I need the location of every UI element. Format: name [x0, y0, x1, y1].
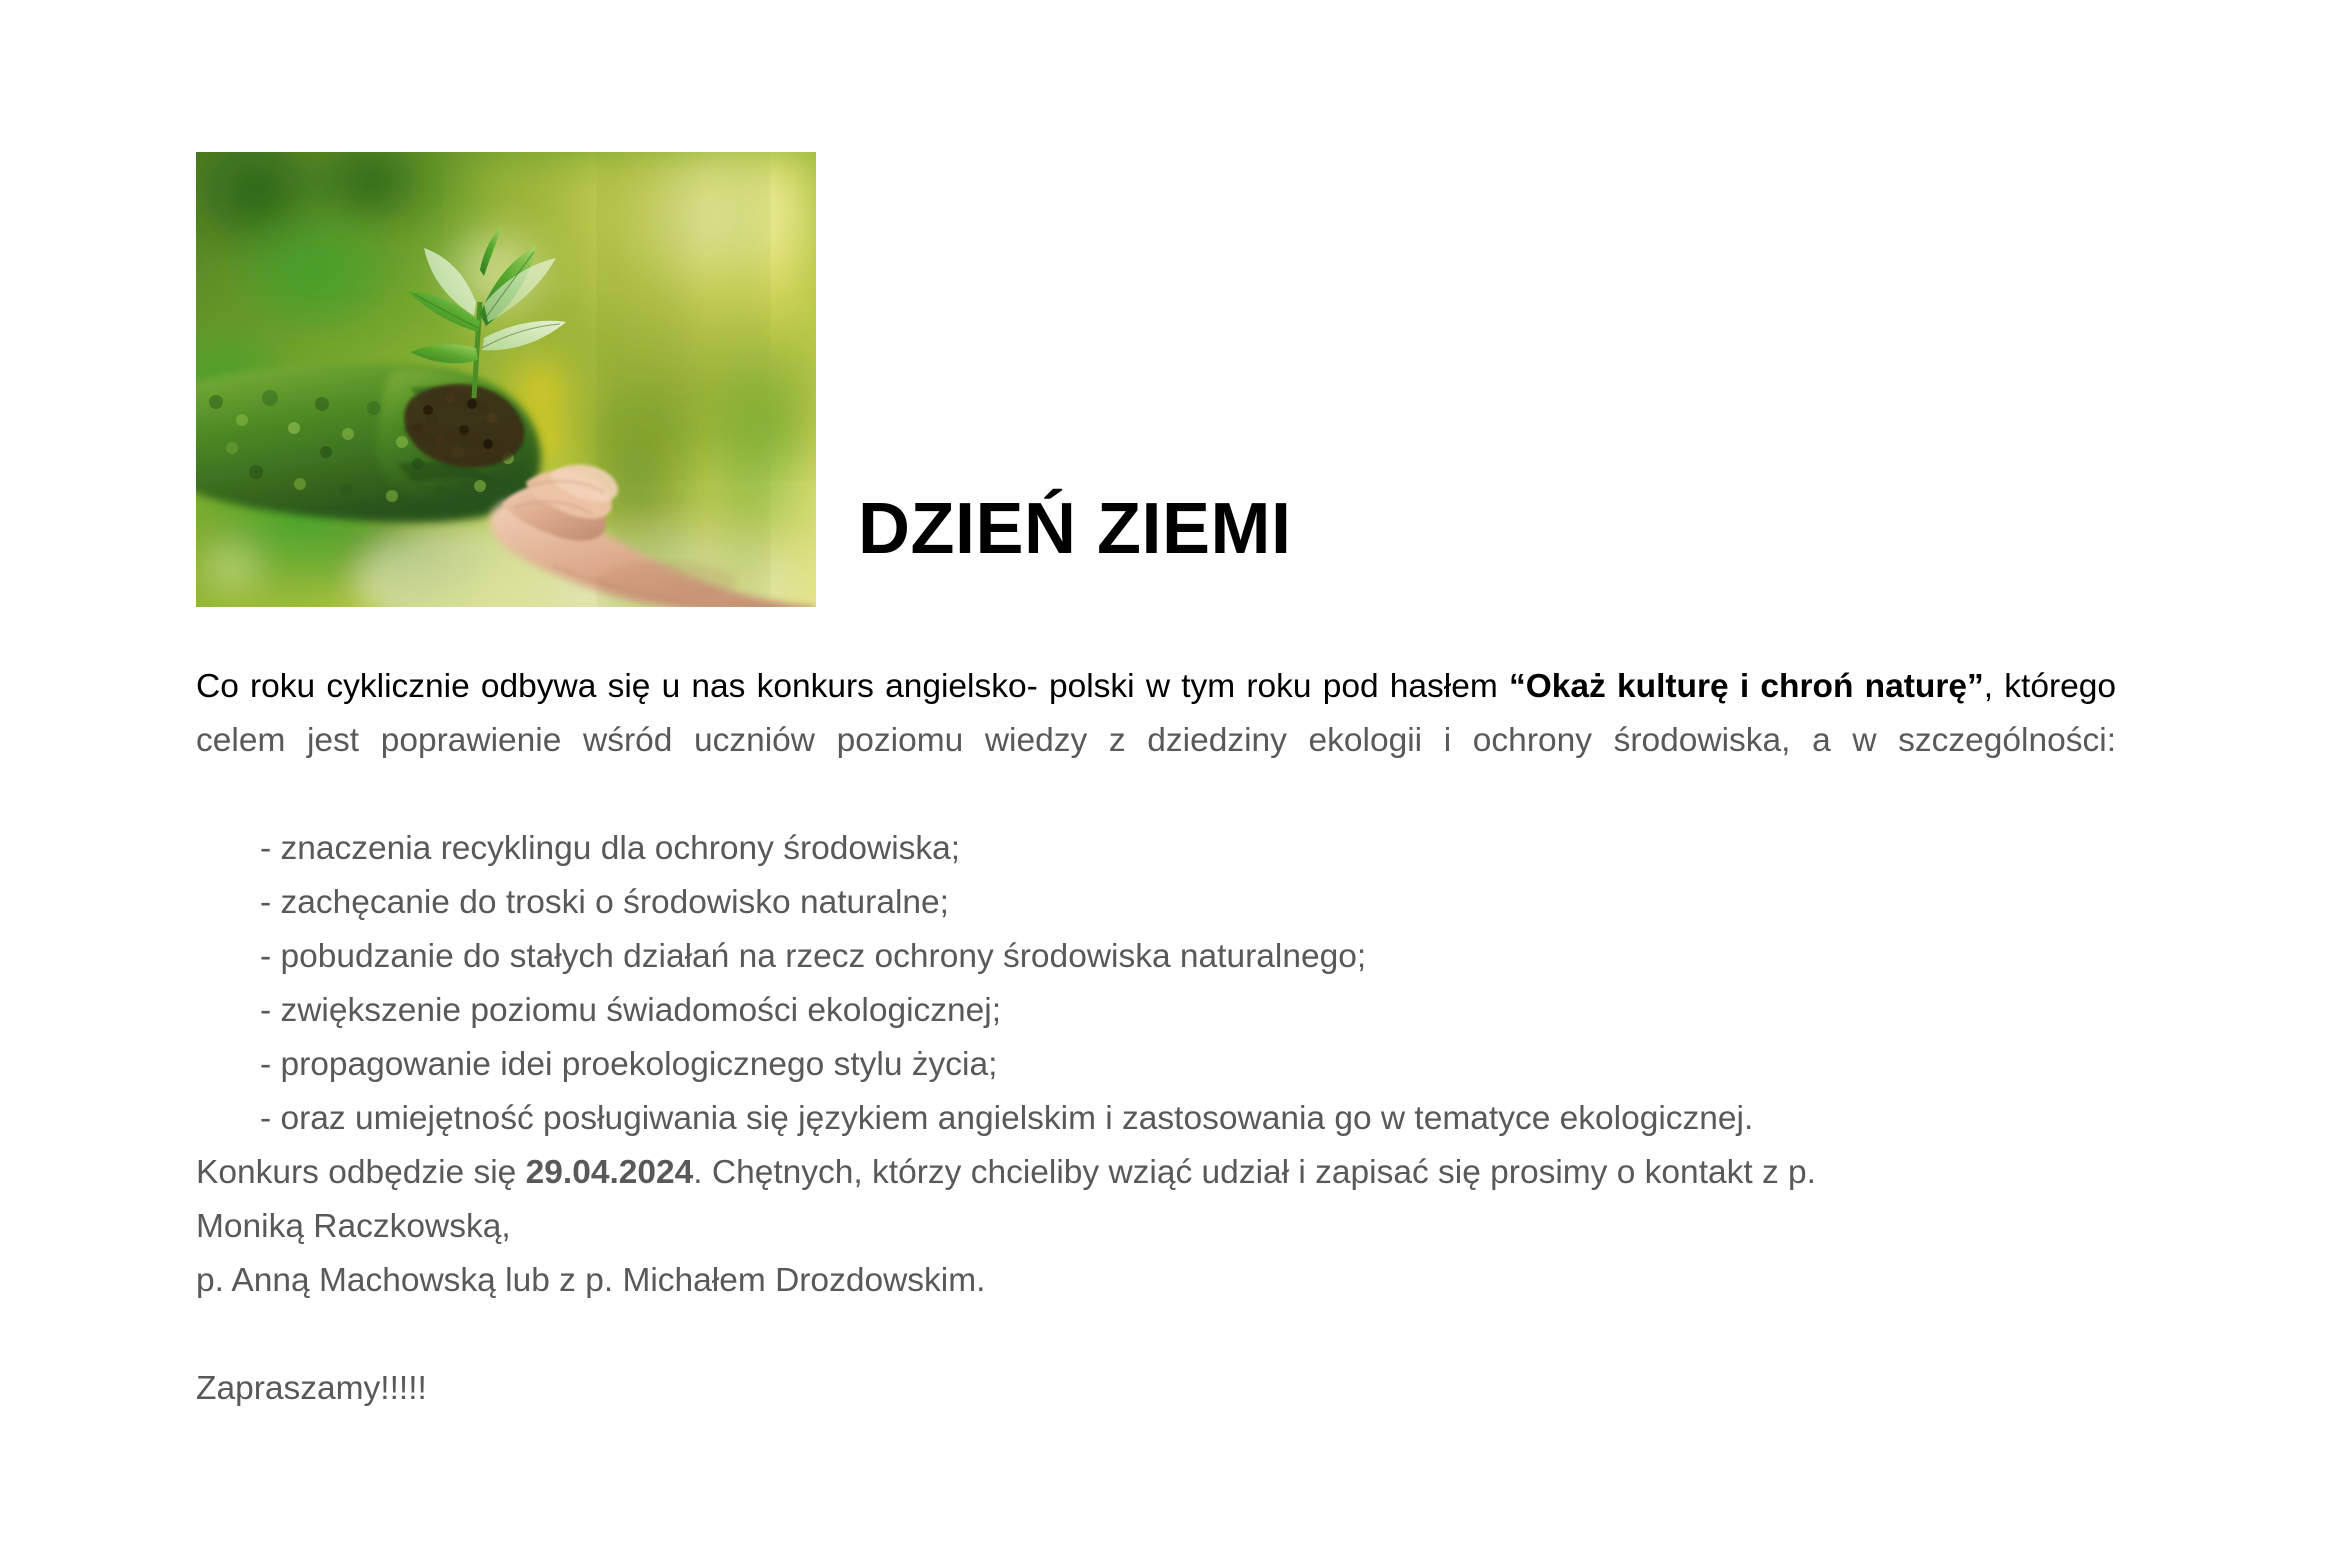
earth-day-photo [196, 152, 816, 607]
contest-date: 29.04.2024 [526, 1154, 694, 1191]
list-item: - znaczenia recyklingu dla ochrony środo… [196, 822, 2116, 876]
contact-person-1: Moniką Raczkowską, [196, 1208, 511, 1245]
list-item: - propagowanie idei proekologicznego sty… [196, 1038, 2116, 1092]
closing-invitation: Zapraszamy!!!!! [196, 1362, 2116, 1416]
hero-section: DZIEŃ ZIEMI [196, 152, 2196, 612]
contest-slogan: “Okaż kulturę i chroń naturę” [1509, 668, 1984, 705]
details-line-1: Konkurs odbędzie się 29.04.2024. Chętnyc… [196, 1154, 1816, 1191]
poster-body: Co roku cyklicznie odbywa się u nas konk… [196, 660, 2116, 1416]
objectives-list: - znaczenia recyklingu dla ochrony środo… [196, 822, 2116, 1146]
page-title-wrap: DZIEŃ ZIEMI [858, 152, 1292, 607]
intro-paragraph: Co roku cyklicznie odbywa się u nas konk… [196, 660, 2116, 822]
poster-page: DZIEŃ ZIEMI Co roku cyklicznie odbywa si… [0, 0, 2338, 1559]
details-paragraph: Konkurs odbędzie się 29.04.2024. Chętnyc… [196, 1146, 2116, 1308]
contact-person-2: p. Anną Machowską lub z p. Michałem Droz… [196, 1262, 985, 1299]
list-item: - zwiększenie poziomu świadomości ekolog… [196, 984, 2116, 1038]
list-item: - pobudzanie do stałych działań na rzecz… [196, 930, 2116, 984]
details-suffix: . Chętnych, którzy chcieliby wziąć udzia… [693, 1154, 1816, 1191]
intro-segment-2: , którego [1984, 668, 2116, 705]
intro-segment-3: celem jest poprawienie wśród uczniów poz… [196, 722, 2116, 759]
page-title: DZIEŃ ZIEMI [858, 493, 1292, 565]
list-item: - zachęcanie do troski o środowisko natu… [196, 876, 2116, 930]
paragraph-spacer [196, 1308, 2116, 1362]
intro-segment-1: Co roku cyklicznie odbywa się u nas konk… [196, 668, 1509, 705]
details-prefix: Konkurs odbędzie się [196, 1154, 526, 1191]
list-item: - oraz umiejętność posługiwania się języ… [196, 1092, 2116, 1146]
